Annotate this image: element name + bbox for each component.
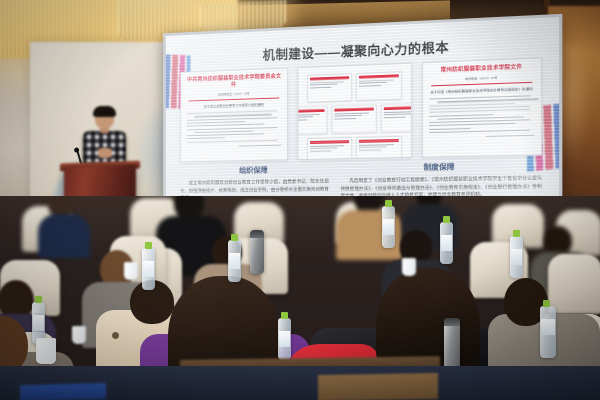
right-document-number: 常纺院发〔2015〕37号 bbox=[429, 74, 535, 82]
water-bottle bbox=[142, 248, 155, 290]
left-document-body bbox=[187, 110, 282, 142]
right-document-title: 常州纺织服装职业技术学院文件 bbox=[429, 64, 535, 75]
table-document bbox=[318, 373, 438, 400]
mini-document-grid bbox=[305, 69, 405, 160]
coat-button bbox=[112, 332, 119, 339]
water-bottle bbox=[228, 240, 241, 282]
water-bottle bbox=[540, 306, 556, 358]
mini-document bbox=[331, 104, 376, 133]
mini-document bbox=[298, 106, 328, 135]
speaker-hands bbox=[98, 148, 112, 158]
mini-row-top bbox=[307, 71, 402, 102]
water-bottle bbox=[510, 236, 523, 278]
chair-mid bbox=[548, 254, 600, 314]
middle-document-grid-panel bbox=[298, 63, 412, 160]
projection-screen: 机制建设——凝聚向心力的根本 中共常州纺织服装职业技术学院委员会文件 常纺院党发… bbox=[166, 17, 559, 210]
caption-heading-institutional: 制度保障 bbox=[341, 160, 542, 175]
left-document-heading: 关于成立创新创业教育工作领导小组的通知 bbox=[187, 102, 282, 110]
water-bottle bbox=[440, 222, 453, 264]
right-document-body bbox=[429, 95, 535, 133]
attendee-torso bbox=[38, 214, 90, 258]
presentation-slide: 机制建设——凝聚向心力的根本 中共常州纺织服装职业技术学院委员会文件 常纺院党发… bbox=[166, 17, 559, 210]
right-document-panel: 常州纺织服装职业技术学院文件 常纺院发〔2015〕37号 关于印发《常州纺织服装… bbox=[422, 57, 542, 157]
left-document-title: 中共常州纺织服装职业技术学院委员会文件 bbox=[187, 74, 282, 91]
right-document-heading: 关于印发《常州纺织服装职业技术学院创业教育实施规定》的通知 bbox=[429, 87, 535, 96]
mini-document bbox=[381, 103, 412, 133]
audience-area bbox=[0, 196, 600, 400]
water-bottle bbox=[382, 206, 395, 248]
mini-row-bottom bbox=[307, 136, 402, 160]
left-document-footer bbox=[238, 144, 281, 146]
mini-document bbox=[356, 71, 402, 101]
paper-cup bbox=[72, 326, 86, 344]
thermos-flask bbox=[444, 318, 460, 370]
slide-panels: 中共常州纺织服装职业技术学院委员会文件 常纺院党发〔2015〕18号 关于成立创… bbox=[180, 57, 542, 162]
mini-document bbox=[307, 137, 352, 160]
mini-document bbox=[307, 73, 352, 102]
paper-cup bbox=[402, 258, 416, 276]
table-blue-book bbox=[20, 383, 106, 400]
caption-institutional: 制度保障 先后制定了《创业教育行动工程纲要》、《常州纺织服装职业技术学院学生个性… bbox=[341, 160, 542, 200]
paper-cup bbox=[124, 262, 138, 280]
caption-heading-organizational: 组织保障 bbox=[180, 163, 328, 176]
right-document-rule bbox=[431, 82, 532, 87]
mini-row-middle bbox=[298, 103, 412, 135]
water-bottle bbox=[278, 318, 291, 360]
projection-screen-frame: 机制建设——凝聚向心力的根本 中共常州纺织服装职业技术学院委员会文件 常纺院党发… bbox=[163, 14, 562, 214]
mini-document bbox=[356, 136, 402, 160]
left-document-number: 常纺院党发〔2015〕18号 bbox=[187, 91, 282, 98]
right-document-footer bbox=[486, 135, 534, 137]
conference-photo-scene: 机制建设——凝聚向心力的根本 中共常州纺织服装职业技术学院委员会文件 常纺院党发… bbox=[0, 0, 600, 400]
left-document-rule bbox=[189, 98, 280, 102]
left-document-panel: 中共常州纺织服装职业技术学院委员会文件 常纺院党发〔2015〕18号 关于成立创… bbox=[180, 68, 288, 163]
paper-cup bbox=[36, 338, 56, 364]
thermos-flask bbox=[250, 230, 264, 274]
speaker-hair bbox=[93, 106, 116, 117]
